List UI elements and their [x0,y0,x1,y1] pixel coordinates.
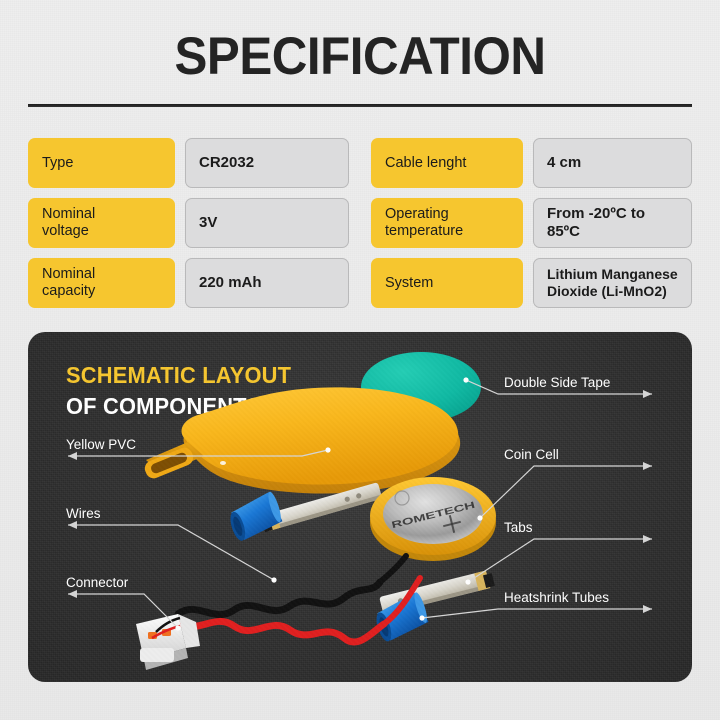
callout-tabs: Tabs [504,520,533,536]
callout-connector: Connector [66,575,128,591]
table-row: System Lithium Manganese Dioxide (Li-MnO… [371,258,692,308]
callout-coin-cell: Coin Cell [504,447,559,463]
specification-table: Type CR2032 Nominal voltage 3V Nominal c… [28,138,692,308]
spec-value-operating-temperature: From -20ºC to 85ºC [533,198,692,248]
table-row: Type CR2032 [28,138,349,188]
page-title: SPECIFICATION [25,26,695,88]
coin-cell-shape: ROMETECH [370,477,496,561]
schematic-panel: SCHEMATIC LAYOUT OF COMPONENTS [28,332,692,682]
title-divider [28,104,692,107]
spec-value-cable-length: 4 cm [533,138,692,188]
callout-wires: Wires [66,506,101,522]
spec-label-nominal-capacity: Nominal capacity [28,258,175,308]
spec-column-right: Cable lenght 4 cm Operating temperature … [371,138,692,308]
spec-label-type: Type [28,138,175,188]
spec-value-nominal-voltage: 3V [185,198,349,248]
callout-yellow-pvc: Yellow PVC [66,437,136,453]
callout-double-side-tape: Double Side Tape [504,375,610,391]
spec-label-system: System [371,258,523,308]
table-row: Cable lenght 4 cm [371,138,692,188]
spec-column-left: Type CR2032 Nominal voltage 3V Nominal c… [28,138,349,308]
table-row: Nominal capacity 220 mAh [28,258,349,308]
connector-shape [136,614,200,670]
spec-label-cable-length: Cable lenght [371,138,523,188]
spec-value-system: Lithium Manganese Dioxide (Li-MnO2) [533,258,692,308]
pvc-highlight [220,461,226,465]
table-row: Nominal voltage 3V [28,198,349,248]
heatshrink-tube-upper [225,491,285,543]
spec-value-type: CR2032 [185,138,349,188]
spec-value-nominal-capacity: 220 mAh [185,258,349,308]
table-row: Operating temperature From -20ºC to 85ºC [371,198,692,248]
spec-label-operating-temperature: Operating temperature [371,198,523,248]
spec-label-nominal-voltage: Nominal voltage [28,198,175,248]
callout-heatshrink-tubes: Heatshrink Tubes [504,590,609,606]
